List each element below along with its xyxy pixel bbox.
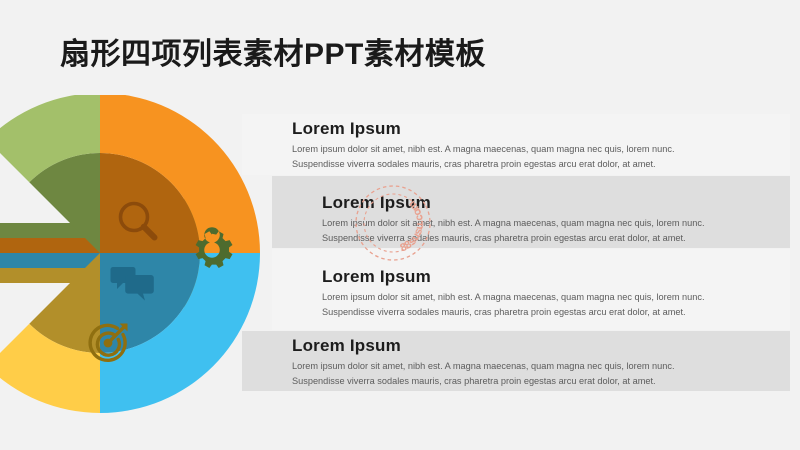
list-item-body: Lorem ipsum dolor sit amet, nibh est. A … <box>322 216 734 246</box>
list-item[interactable]: Lorem Ipsum Lorem ipsum dolor sit amet, … <box>242 331 790 391</box>
list-item[interactable]: Lorem Ipsum Lorem ipsum dolor sit amet, … <box>242 114 790 175</box>
list-item-heading: Lorem Ipsum <box>322 267 734 287</box>
list-item-text: Lorem Ipsum Lorem ipsum dolor sit amet, … <box>322 267 734 320</box>
list-item[interactable]: Lorem Ipsum Lorem ipsum dolor sit amet, … <box>272 176 790 248</box>
list-item[interactable]: Lorem Ipsum Lorem ipsum dolor sit amet, … <box>272 249 790 330</box>
list-item-text: Lorem Ipsum Lorem ipsum dolor sit amet, … <box>322 193 734 246</box>
list-item-body: Lorem ipsum dolor sit amet, nibh est. A … <box>292 359 704 389</box>
fan-diagram <box>0 95 300 415</box>
slide-canvas: 扇形四项列表素材PPT素材模板 Lorem Ipsum Lorem ipsum … <box>0 0 800 450</box>
list-item-text: Lorem Ipsum Lorem ipsum dolor sit amet, … <box>292 336 704 389</box>
list-item-text: Lorem Ipsum Lorem ipsum dolor sit amet, … <box>292 119 704 172</box>
list-item-heading: Lorem Ipsum <box>292 119 704 139</box>
list-item-heading: Lorem Ipsum <box>292 336 704 356</box>
page-title: 扇形四项列表素材PPT素材模板 <box>60 36 486 74</box>
list-item-body: Lorem ipsum dolor sit amet, nibh est. A … <box>292 142 704 172</box>
list-item-heading: Lorem Ipsum <box>322 193 734 213</box>
list-item-body: Lorem ipsum dolor sit amet, nibh est. A … <box>322 290 734 320</box>
